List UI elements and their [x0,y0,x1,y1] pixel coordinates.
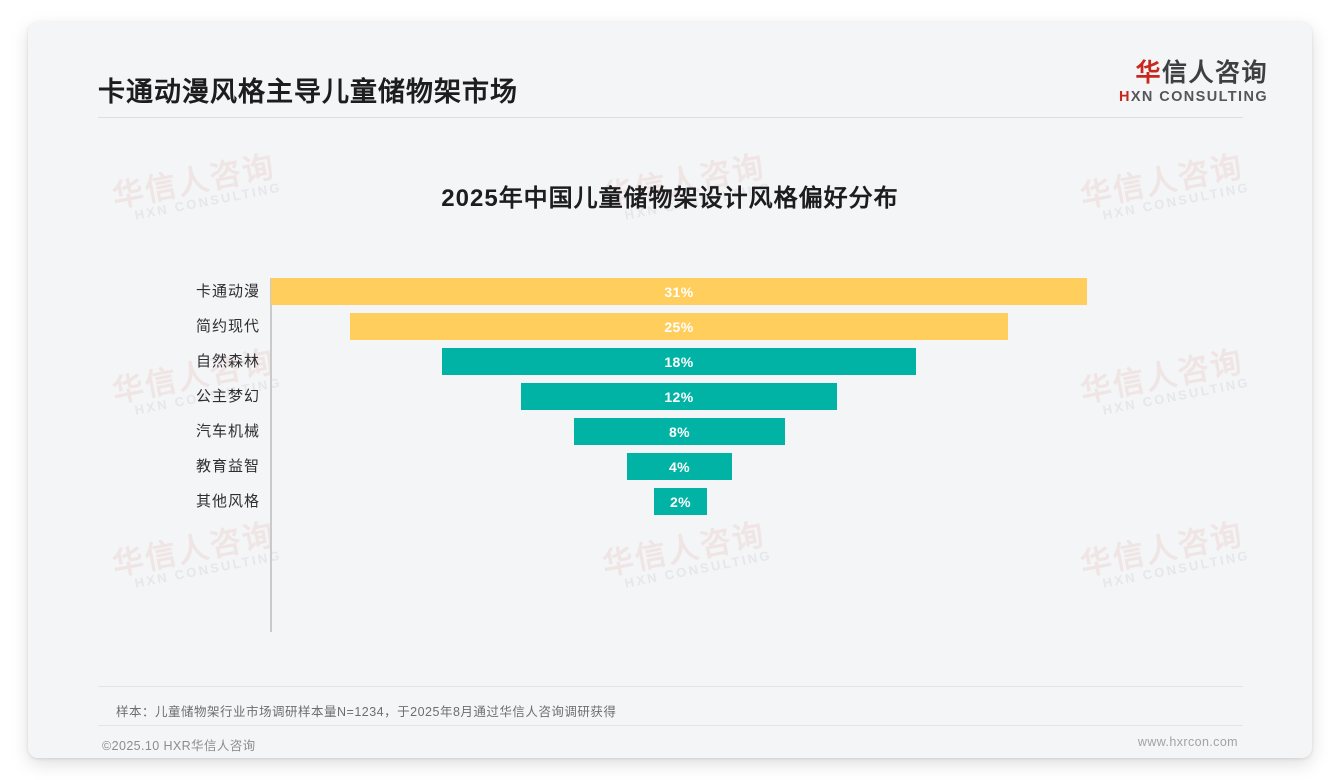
bar-track: 4% [271,449,1312,484]
logo-cn-rest: 信人咨询 [1162,59,1268,87]
bar-track: 12% [271,379,1312,414]
bar-row: 自然森林18% [28,344,1312,379]
chart-title: 2025年中国儿童储物架设计风格偏好分布 [28,178,1312,213]
bar-segment[interactable]: 12% [521,383,837,410]
bar-category-label: 卡通动漫 [28,274,260,309]
bar-track: 25% [271,309,1312,344]
bar-row: 卡通动漫31% [28,274,1312,309]
bar-track: 8% [271,414,1312,449]
bar-segment[interactable]: 25% [350,313,1008,340]
slide-canvas: 华信人咨询 HXN CONSULTING 华信人咨询 HXN CONSULTIN… [0,0,1340,780]
bar-track: 31% [271,274,1312,309]
company-logo: 华信人咨询 HXN CONSULTING [1119,60,1268,105]
bar-value-label: 12% [664,389,693,405]
bar-value-label: 18% [664,354,693,370]
bar-row: 简约现代25% [28,309,1312,344]
bar-segment[interactable]: 2% [654,488,707,515]
bar-track: 2% [271,484,1312,519]
bar-segment[interactable]: 4% [627,453,732,480]
bar-row: 教育益智4% [28,449,1312,484]
note-divider-top [98,686,1243,687]
bar-value-label: 4% [669,459,690,475]
bar-segment[interactable]: 8% [574,418,785,445]
website-link[interactable]: www.hxrcon.com [1138,735,1238,749]
slide-header: 卡通动漫风格主导儿童储物架市场 华信人咨询 HXN CONSULTING [28,22,1312,112]
bar-rows: 卡通动漫31%简约现代25%自然森林18%公主梦幻12%汽车机械8%教育益智4%… [28,274,1312,519]
bar-category-label: 汽车机械 [28,414,260,449]
bar-track: 18% [271,344,1312,379]
bar-value-label: 2% [670,494,691,510]
bar-value-label: 8% [669,424,690,440]
logo-cn-accent: 华 [1135,59,1162,87]
bar-value-label: 25% [664,319,693,335]
bar-category-label: 简约现代 [28,309,260,344]
logo-en-accent: H [1119,89,1131,105]
bar-category-label: 公主梦幻 [28,379,260,414]
bar-value-label: 31% [664,284,693,300]
sample-note: 样本：儿童储物架行业市场调研样本量N=1234，于2025年8月通过华信人咨询调… [116,701,616,720]
bar-category-label: 自然森林 [28,344,260,379]
bar-category-label: 其他风格 [28,484,260,519]
bar-segment[interactable]: 18% [442,348,916,375]
page-title: 卡通动漫风格主导儿童储物架市场 [98,70,518,109]
bar-row: 公主梦幻12% [28,379,1312,414]
bar-row: 汽车机械8% [28,414,1312,449]
logo-english: HXN CONSULTING [1119,89,1268,105]
bar-segment[interactable]: 31% [271,278,1087,305]
slide-card: 华信人咨询 HXN CONSULTING 华信人咨询 HXN CONSULTIN… [28,22,1312,758]
note-divider-bottom [98,725,1243,726]
chart-container: 2025年中国儿童储物架设计风格偏好分布 卡通动漫31%简约现代25%自然森林1… [28,118,1312,658]
chart-plot-area: 卡通动漫31%简约现代25%自然森林18%公主梦幻12%汽车机械8%教育益智4%… [28,274,1312,634]
logo-en-rest: XN CONSULTING [1131,89,1268,105]
logo-chinese: 华信人咨询 [1119,60,1268,86]
copyright-text: ©2025.10 HXR华信人咨询 [102,735,256,754]
bar-category-label: 教育益智 [28,449,260,484]
bar-row: 其他风格2% [28,484,1312,519]
